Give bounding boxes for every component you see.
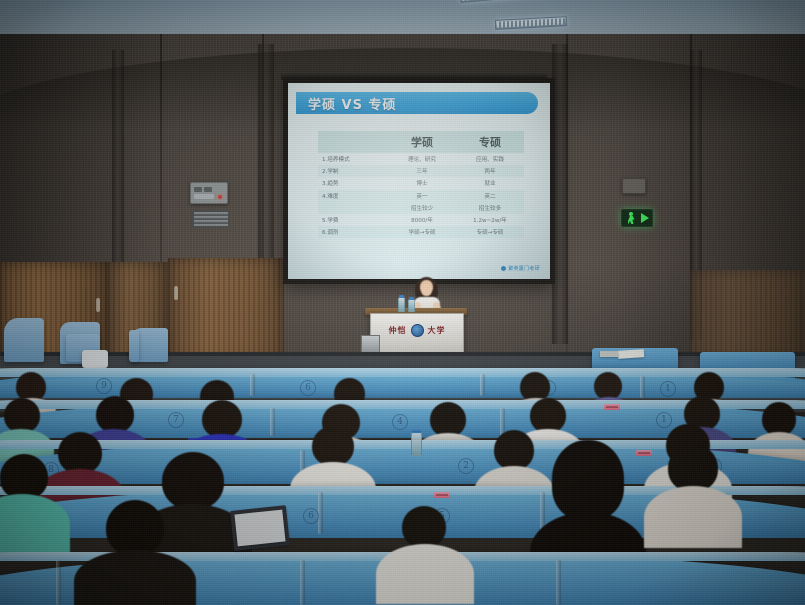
seat-number: 4 [392,414,408,430]
wooden-wall-panel-right [690,270,805,362]
person-head [4,398,40,433]
seat-number: 1 [656,412,672,428]
water-bottle [408,299,415,312]
projection-screen: 学硕 VS 专硕 学硕 专硕 1.培养模式 理论、研究 [288,83,550,279]
panel-button[interactable] [194,187,202,192]
table-body: 1.培养模式 理论、研究 应用、实践 2.学制 三年 两年 3.趋势 博士 [318,153,524,238]
row-label [318,202,388,214]
watermark-text: 聚英厦门考研 [508,265,540,272]
seat-number: 6 [303,508,319,524]
panel-button[interactable] [204,187,212,192]
person-head [312,426,354,466]
bottle-cap [399,295,404,298]
table-header-row: 学硕 专硕 [318,131,524,153]
seat-number: 1 [660,381,676,397]
slide-title-text: 学硕 VS 专硕 [296,94,396,113]
water-bottle [411,432,422,456]
person-head [530,398,566,433]
person-head [762,402,796,436]
person-head [594,372,622,400]
person-head [106,500,164,556]
person-head [96,396,134,433]
seat-number: 9 [96,378,112,394]
person-shoulders [376,544,474,604]
person-head [162,452,224,510]
seat-divider [480,374,485,396]
person-head [402,506,446,548]
wall-speaker-box [622,178,646,194]
podium-institution-plate: 仲恺 大学 [371,324,463,337]
stage-floor-edge [0,352,805,356]
row-label: 1.培养模式 [318,153,388,165]
row-professional: 专硕→专硕 [456,226,524,238]
seat-divider [56,560,61,605]
wall-vent [192,210,230,228]
folding-chair-stack [4,318,44,362]
row-academic: 招生较少 [388,202,456,214]
person-head [58,432,102,474]
row-professional: 就业 [456,177,524,189]
row-professional: 两年 [456,165,524,177]
panel-status-led-icon [218,195,222,199]
seat-divider [640,376,645,398]
seat-number: 7 [168,412,184,428]
seat-divider [250,374,255,396]
person-head [494,430,534,470]
seat-sticker [636,450,652,456]
table-row: 4.难度 英一 英二 [318,190,524,202]
emergency-exit-sign [621,209,653,227]
podium-text-left: 仲恺 [389,325,407,336]
seat-divider [556,560,561,605]
running-person-icon [626,212,638,224]
door-handle-icon [174,286,178,300]
seat-sticker [434,492,450,498]
seat-number: 6 [300,380,316,396]
slide-watermark: 聚英厦门考研 [501,265,540,272]
table-row: 2.学制 三年 两年 [318,165,524,177]
row-label: 3.趋势 [318,177,388,189]
table-row: 6.调剂 学硕→专硕 专硕→专硕 [318,226,524,238]
person-head [668,444,718,492]
av-control-panel[interactable] [190,182,228,204]
exit-arrow-icon [641,213,649,223]
person-shoulders [74,550,196,605]
seat-divider [300,560,305,605]
table-col-academic: 学硕 [388,131,456,153]
panel-display [194,194,214,199]
table-col-professional: 专硕 [456,131,524,153]
bottle-cap [409,297,414,300]
row-academic: 博士 [388,177,456,189]
podium-text-right: 大学 [428,325,446,336]
row-professional: 1.2w~2w/年 [456,214,524,226]
paper-stack [600,351,618,357]
notebook-pages [234,510,285,547]
row-label: 6.调剂 [318,226,388,238]
seat-number: 2 [458,458,474,474]
row-professional: 英二 [456,190,524,202]
row-label: 2.学制 [318,165,388,177]
podium-side-cabinet [129,330,139,362]
person-shoulders [644,486,742,548]
table-corner-cell [318,131,388,153]
no-smoking-sign-board [82,350,108,368]
door-handle-icon [96,298,100,312]
row-academic: 英一 [388,190,456,202]
table-row: 招生较少 招生较多 [318,202,524,214]
lecture-hall-photo: 学硕 VS 专硕 学硕 专硕 1.培养模式 理论、研究 [0,0,805,605]
seat-row-lip [0,368,805,377]
university-seal-icon [411,324,424,337]
row-academic: 三年 [388,165,456,177]
table-row: 3.趋势 博士 就业 [318,177,524,189]
watermark-logo-icon [501,266,506,271]
row-label: 4.难度 [318,190,388,202]
seat-sticker [604,404,620,410]
seat-divider [318,492,323,534]
comparison-table: 学硕 专硕 1.培养模式 理论、研究 应用、实践 2.学制 三年 [318,131,524,238]
person-head [552,440,624,520]
slide-title-bar: 学硕 VS 专硕 [296,92,538,114]
row-label: 5.学费 [318,214,388,226]
row-professional: 应用、实践 [456,153,524,165]
seat-divider [270,408,275,436]
row-academic: 8000/年 [388,214,456,226]
presenter-face [421,284,432,296]
bottle-cap [412,430,421,433]
row-academic: 理论、研究 [388,153,456,165]
wooden-door-right[interactable] [168,258,284,362]
table-row: 5.学费 8000/年 1.2w~2w/年 [318,214,524,226]
person-head [430,402,466,437]
row-professional: 招生较多 [456,202,524,214]
person-head [202,400,242,438]
water-bottle [398,297,405,312]
presentation-slide: 学硕 VS 专硕 学硕 专硕 1.培养模式 理论、研究 [288,83,550,279]
projection-screen-frame: 学硕 VS 专硕 学硕 专硕 1.培养模式 理论、研究 [283,78,555,284]
row-academic: 学硕→专硕 [388,226,456,238]
table-row: 1.培养模式 理论、研究 应用、实践 [318,153,524,165]
